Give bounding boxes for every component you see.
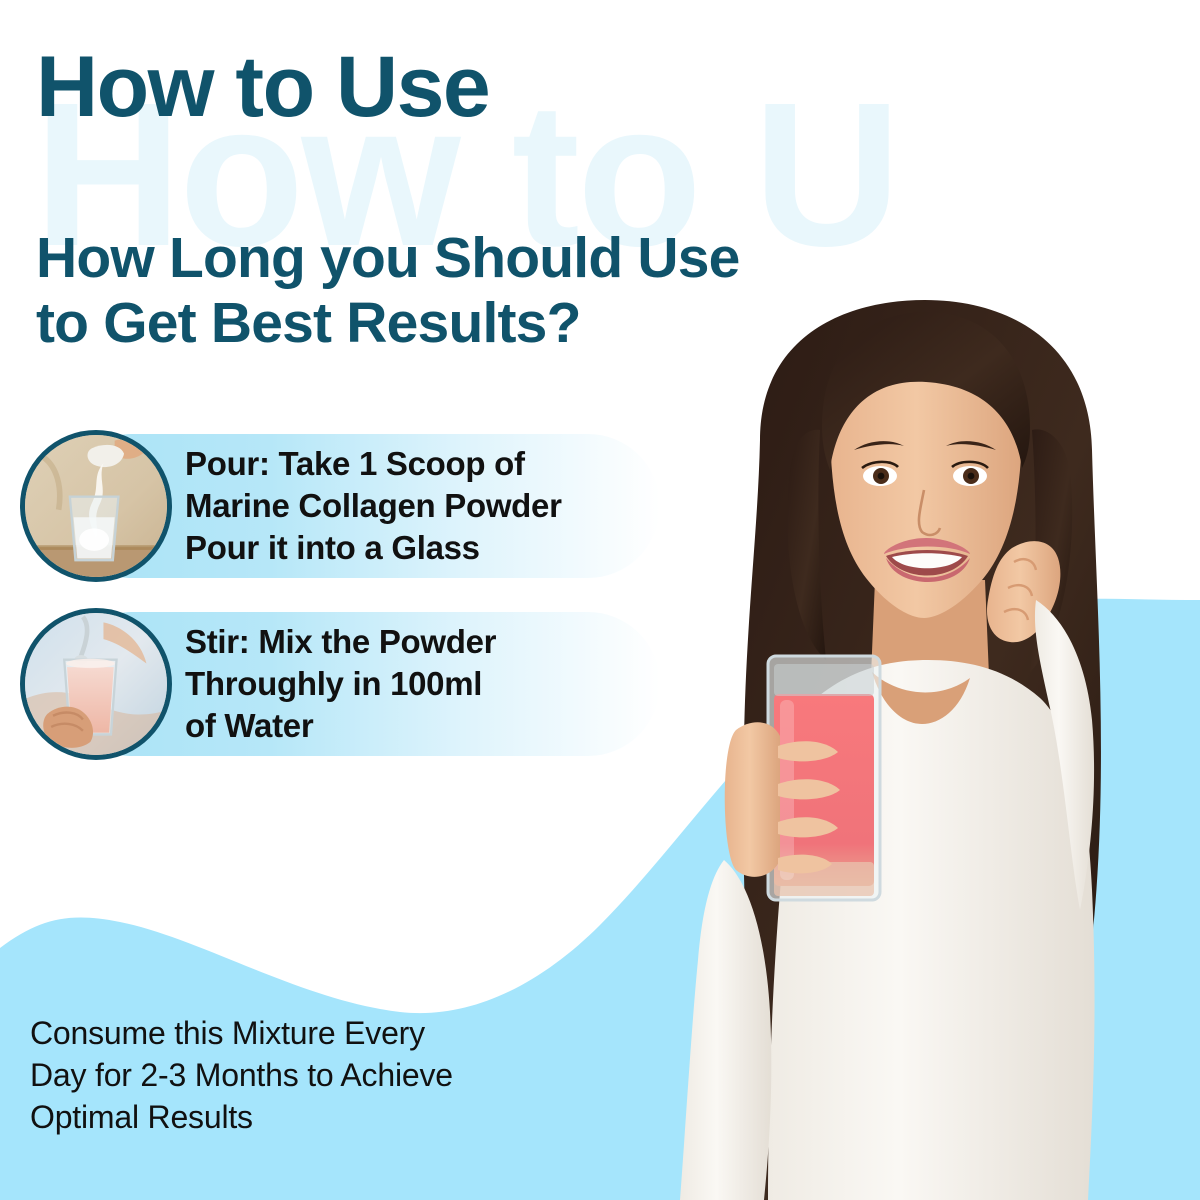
pour-illustration bbox=[25, 435, 167, 577]
steps-list: Pour: Take 1 Scoop of Marine Collagen Po… bbox=[0, 430, 700, 786]
footer-line: Optimal Results bbox=[30, 1096, 650, 1138]
footer-note: Consume this Mixture Every Day for 2-3 M… bbox=[30, 1012, 650, 1139]
subtitle-line-1: How Long you Should Use bbox=[36, 226, 1056, 291]
page-title: How to Use bbox=[36, 44, 489, 130]
step-line: of Water bbox=[185, 705, 496, 747]
step-item-stir: Stir: Mix the Powder Throughly in 100ml … bbox=[0, 608, 700, 760]
stir-glass-with-spoon-photo bbox=[20, 608, 172, 760]
step-text-pour: Pour: Take 1 Scoop of Marine Collagen Po… bbox=[185, 443, 562, 569]
step-line: Pour it into a Glass bbox=[185, 527, 562, 569]
footer-line: Day for 2-3 Months to Achieve bbox=[30, 1054, 650, 1096]
model-photo bbox=[640, 300, 1200, 1200]
poster-canvas: How to U bbox=[0, 0, 1200, 1200]
step-line: Pour: Take 1 Scoop of bbox=[185, 443, 562, 485]
footer-line: Consume this Mixture Every bbox=[30, 1012, 650, 1054]
subtitle-line-2: to Get Best Results? bbox=[36, 291, 1056, 356]
step-line: Stir: Mix the Powder bbox=[185, 621, 496, 663]
step-text-stir: Stir: Mix the Powder Throughly in 100ml … bbox=[185, 621, 496, 747]
pour-powder-into-glass-photo bbox=[20, 430, 172, 582]
page-subtitle: How Long you Should Use to Get Best Resu… bbox=[36, 226, 1056, 356]
step-item-pour: Pour: Take 1 Scoop of Marine Collagen Po… bbox=[0, 430, 700, 582]
step-line: Marine Collagen Powder bbox=[185, 485, 562, 527]
step-line: Throughly in 100ml bbox=[185, 663, 496, 705]
stir-illustration bbox=[25, 613, 167, 755]
model-illustration bbox=[640, 300, 1200, 1200]
